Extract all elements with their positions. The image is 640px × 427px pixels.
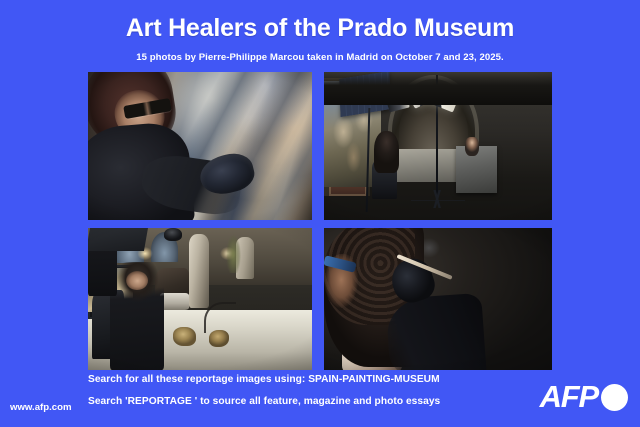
photo-bottom-right[interactable] [324, 228, 552, 370]
afp-logo-dot-icon [601, 384, 628, 411]
photo-vignette [88, 72, 312, 220]
photo-vignette [324, 72, 552, 220]
photo-top-right[interactable] [324, 72, 552, 220]
afp-logo-text: AFP [540, 381, 598, 412]
search-instruction-primary: Search for all these reportage images us… [88, 374, 440, 385]
photo-vignette [324, 228, 552, 370]
photo-bottom-left[interactable] [88, 228, 312, 370]
afp-reportage-card: Art Healers of the Prado Museum 15 photo… [0, 0, 640, 427]
photo-vignette [88, 228, 312, 370]
website-url[interactable]: www.afp.com [10, 402, 71, 413]
photo-top-left[interactable] [88, 72, 312, 220]
search-instruction-secondary: Search 'REPORTAGE ' to source all featur… [88, 396, 440, 407]
page-subtitle: 15 photos by Pierre-Philippe Marcou take… [0, 51, 640, 64]
photo-grid [88, 72, 552, 370]
page-title: Art Healers of the Prado Museum [0, 13, 640, 43]
afp-logo[interactable]: AFP [540, 381, 628, 412]
